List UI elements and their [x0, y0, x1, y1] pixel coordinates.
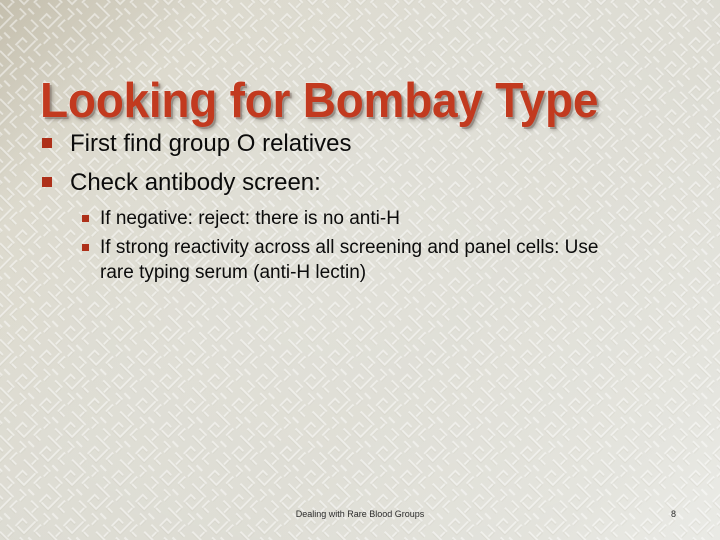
sub-list-item-label: If strong reactivity across all screenin…: [100, 235, 628, 285]
list-item: Check antibody screen:: [36, 167, 686, 198]
small-square-bullet-icon: [82, 215, 89, 222]
sub-list-item-label: If negative: reject: there is no anti-H: [100, 206, 400, 231]
list-item-label: First find group O relatives: [70, 128, 351, 159]
bullet-list: First find group O relatives Check antib…: [36, 128, 686, 289]
page-title: Looking for Bombay Type: [40, 73, 642, 129]
sub-bullet-list: If negative: reject: there is no anti-H …: [36, 206, 686, 285]
footer-title: Dealing with Rare Blood Groups: [0, 508, 720, 520]
list-item: First find group O relatives: [36, 128, 686, 159]
sub-list-item: If negative: reject: there is no anti-H: [36, 206, 686, 231]
list-item-label: Check antibody screen:: [70, 167, 321, 198]
small-square-bullet-icon: [82, 244, 89, 251]
square-bullet-icon: [42, 138, 52, 148]
slide-canvas: Looking for Bombay Type First find group…: [0, 0, 720, 540]
page-number: 8: [671, 508, 676, 520]
square-bullet-icon: [42, 177, 52, 187]
sub-list-item: If strong reactivity across all screenin…: [36, 235, 686, 285]
